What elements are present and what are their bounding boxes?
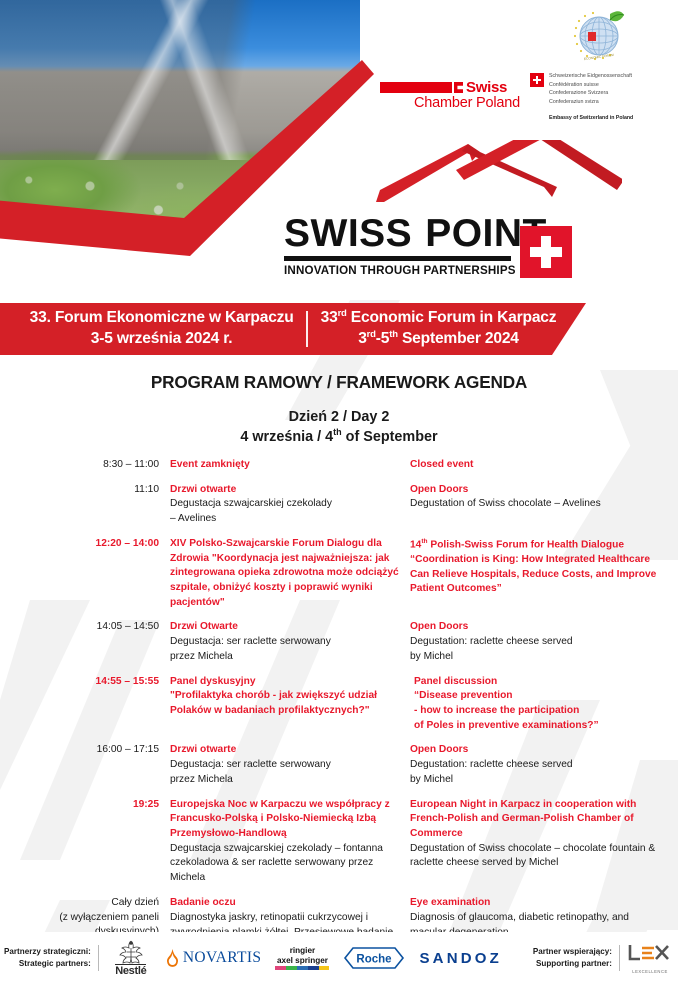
agenda-row-polish-body: Degustacja: ser raclette serwowanyprzez …: [170, 758, 410, 788]
agenda-row-english-title: European Night in Karpacz in cooperation…: [410, 798, 668, 842]
agenda-table: 8:30 – 11:00Event zamkniętyClosed event1…: [0, 458, 678, 965]
swiss-point-roof-icon: [272, 140, 622, 206]
agenda-row-polish-title: Europejska Noc w Karpaczu we współpracy …: [170, 798, 410, 842]
chamber-subtitle: Chamber Poland: [380, 95, 520, 111]
strategic-partners-label: Partnerzy strategiczni: Strategic partne…: [4, 946, 98, 969]
sponsor-logos: Nestlé NOVARTIS ringier axel springer: [99, 938, 502, 977]
agenda-row-polish-title: Panel dyskusyjny"Profilaktyka chorób - j…: [170, 675, 410, 719]
supporting-label-en: Supporting partner:: [533, 958, 612, 970]
agenda-row-polish-title: XIV Polsko-Szwajcarskie Forum Dialogu dl…: [170, 537, 410, 610]
agenda-row-polish-title: Event zamknięty: [170, 458, 410, 473]
supporting-partner-label: Partner wspierający: Supporting partner:: [533, 946, 619, 969]
economic-forum-globe-icon: ECONOMIC FORUM: [566, 6, 628, 68]
agenda-row-time: 8:30 – 11:00: [0, 458, 170, 473]
agenda-row: 11:10Drzwi otwarteDegustacja szwajcarski…: [0, 483, 678, 527]
banner-en-line2: 3rd-5th September 2024: [321, 329, 557, 350]
agenda-row-time: 16:00 – 17:15: [0, 743, 170, 787]
ras-color-bar: [275, 966, 329, 969]
agenda-row-english: Open DoorsDegustation of Swiss chocolate…: [410, 483, 668, 527]
novartis-flame-icon: [165, 948, 180, 968]
svg-text:Roche: Roche: [357, 954, 392, 966]
agenda-row: 16:00 – 17:15Drzwi otwarteDegustacja: se…: [0, 743, 678, 787]
swiss-point-word-1: SWISS: [284, 215, 412, 252]
sponsor-logo-roche[interactable]: Roche: [343, 946, 405, 970]
svg-text:ECONOMIC FORUM: ECONOMIC FORUM: [584, 53, 615, 61]
agenda-row-english: Open DoorsDegustation: raclette cheese s…: [410, 743, 668, 787]
chamber-e-mark: [454, 82, 463, 93]
banner-polish-text: 33. Forum Ekonomiczne w Karpaczu 3-5 wrz…: [30, 308, 306, 349]
swiss-flag-icon: [520, 226, 572, 278]
header-logos: ECONOMIC FORUM Swiss Chamber Poland Schw…: [358, 0, 678, 300]
agenda-row: 14:55 – 15:55Panel dyskusyjny"Profilakty…: [0, 675, 678, 734]
swiss-point-logo: SWISS POINT INNOVATION THROUGH PARTNERSH…: [258, 140, 658, 277]
agenda-row-polish: Drzwi otwarteDegustacja szwajcarskiej cz…: [170, 483, 410, 527]
embassy-line-de: Schweizerische Eidgenossenschaft: [549, 72, 632, 81]
agenda-row-english: Panel discussion“Disease prevention- how…: [410, 675, 668, 734]
agenda-row-polish-title: Drzwi otwarte: [170, 743, 410, 758]
agenda-row-english-title: Closed event: [410, 458, 668, 473]
novartis-wordmark: NOVARTIS: [183, 949, 262, 967]
agenda-row-time: 12:20 – 14:00: [0, 537, 170, 610]
date-subtitle: 4 września / 4th of September: [0, 427, 678, 445]
axel-springer-wordmark: axel springer: [277, 956, 328, 965]
agenda-row-english-body: Degustation: raclette cheese servedby Mi…: [410, 635, 668, 665]
agenda-row-english-title: Open Doors: [410, 743, 668, 758]
sponsor-logo-sandoz[interactable]: SANDOZ: [419, 950, 502, 967]
sponsor-logo-nestle[interactable]: Nestlé: [111, 938, 151, 977]
agenda-row-english-title: 14th Polish-Swiss Forum for Health Dialo…: [410, 537, 668, 597]
agenda-row-english-title: Eye examination: [410, 896, 668, 911]
agenda-row: 8:30 – 11:00Event zamkniętyClosed event: [0, 458, 678, 473]
agenda-row-polish-body: Degustacja: ser raclette serwowanyprzez …: [170, 635, 410, 665]
ringier-wordmark: ringier: [290, 946, 315, 955]
agenda-row-english-title: Panel discussion“Disease prevention- how…: [410, 675, 668, 734]
agenda-row: 12:20 – 14:00XIV Polsko-Szwajcarskie For…: [0, 537, 678, 610]
agenda-row-english-body: Degustation: raclette cheese servedby Mi…: [410, 758, 668, 788]
swiss-chamber-poland-logo: Swiss Chamber Poland: [380, 80, 520, 111]
nestle-bird-icon: [111, 938, 151, 964]
page-title: PROGRAM RAMOWY / FRAMEWORK AGENDA: [0, 372, 678, 393]
sponsor-footer: Partnerzy strategiczni: Strategic partne…: [0, 932, 678, 984]
sponsor-logo-lex[interactable]: LEXCELLENCE: [620, 943, 672, 974]
embassy-footer-text: Embassy of Switzerland in Poland: [549, 115, 670, 121]
sponsor-logo-ringier-axel-springer[interactable]: ringier axel springer: [275, 946, 329, 969]
lex-icon: [628, 943, 672, 963]
chamber-swiss-label: Swiss: [466, 79, 507, 96]
banner-english-text: 33rd Economic Forum in Karpacz 3rd-5th S…: [308, 308, 557, 350]
agenda-row-time: 11:10: [0, 483, 170, 527]
supporting-label-pl: Partner wspierający:: [533, 946, 612, 958]
agenda-row-polish-title: Badanie oczu: [170, 896, 410, 911]
banner-divider: [306, 311, 308, 347]
agenda-row-polish: XIV Polsko-Szwajcarskie Forum Dialogu dl…: [170, 537, 410, 610]
day-subtitle: Dzień 2 / Day 2: [0, 409, 678, 425]
lex-tagline: LEXCELLENCE: [628, 969, 672, 974]
agenda-row-english: Closed event: [410, 458, 668, 473]
agenda-row-polish: Panel dyskusyjny"Profilaktyka chorób - j…: [170, 675, 410, 734]
agenda-row-polish: Europejska Noc w Karpaczu we współpracy …: [170, 798, 410, 886]
agenda-row-time: 14:05 – 14:50: [0, 620, 170, 664]
agenda-row-polish: Drzwi otwarteDegustacja: ser raclette se…: [170, 743, 410, 787]
roche-hexagon-icon: Roche: [343, 946, 405, 970]
swiss-point-tagline: INNOVATION THROUGH PARTNERSHIPS: [284, 264, 658, 277]
banner-pl-line1: 33. Forum Ekonomiczne w Karpaczu: [30, 308, 294, 329]
agenda-row-english-title: Open Doors: [410, 483, 668, 498]
agenda-row-english-body: Degustation of Swiss chocolate – Aveline…: [410, 497, 668, 512]
poster-header: ECONOMIC FORUM Swiss Chamber Poland Schw…: [0, 0, 678, 300]
strategic-label-en: Strategic partners:: [4, 958, 91, 970]
sandoz-wordmark: SANDOZ: [419, 950, 502, 967]
agenda-row-time: 19:25: [0, 798, 170, 886]
poster-page: ECONOMIC FORUM Swiss Chamber Poland Schw…: [0, 0, 678, 984]
agenda-row-polish-body: Degustacja szwajcarskiej czekolady– Avel…: [170, 497, 410, 527]
chamber-bar-mark: [380, 82, 452, 93]
agenda-row: 19:25Europejska Noc w Karpaczu we współp…: [0, 798, 678, 886]
agenda-row-english-body: Degustation of Swiss chocolate – chocola…: [410, 842, 668, 872]
embassy-line-rm: Confederaziun svizra: [549, 98, 632, 107]
agenda-row-polish-title: Drzwi Otwarte: [170, 620, 410, 635]
strategic-label-pl: Partnerzy strategiczni:: [4, 946, 91, 958]
banner-pl-line2: 3-5 września 2024 r.: [30, 329, 294, 350]
agenda-row-english: Open DoorsDegustation: raclette cheese s…: [410, 620, 668, 664]
agenda-row-polish: Event zamknięty: [170, 458, 410, 473]
agenda-row-polish: Drzwi OtwarteDegustacja: ser raclette se…: [170, 620, 410, 664]
agenda-row-english: 14th Polish-Swiss Forum for Health Dialo…: [410, 537, 668, 610]
embassy-of-switzerland-logo: Schweizerische Eidgenossenschaft Confédé…: [530, 72, 670, 121]
agenda-row-english-title: Open Doors: [410, 620, 668, 635]
swiss-cross-icon: [530, 73, 544, 87]
embassy-language-lines: Schweizerische Eidgenossenschaft Confédé…: [549, 72, 632, 106]
agenda-row-polish-body: Degustacja szwajcarskiej czekolady – fon…: [170, 842, 410, 886]
swiss-point-underline: [284, 256, 511, 261]
banner-en-line1: 33rd Economic Forum in Karpacz: [321, 308, 557, 329]
agenda-titles: PROGRAM RAMOWY / FRAMEWORK AGENDA Dzień …: [0, 372, 678, 445]
agenda-row-english: European Night in Karpacz in cooperation…: [410, 798, 668, 886]
agenda-row-polish-title: Drzwi otwarte: [170, 483, 410, 498]
embassy-line-fr: Confédération suisse: [549, 81, 632, 90]
forum-banner: 33. Forum Ekonomiczne w Karpaczu 3-5 wrz…: [0, 303, 678, 355]
agenda-row-time: 14:55 – 15:55: [0, 675, 170, 734]
nestle-wordmark: Nestlé: [115, 964, 146, 977]
agenda-row: 14:05 – 14:50Drzwi OtwarteDegustacja: se…: [0, 620, 678, 664]
embassy-line-it: Confederazione Svizzera: [549, 89, 632, 98]
sponsor-logo-novartis[interactable]: NOVARTIS: [165, 948, 262, 968]
